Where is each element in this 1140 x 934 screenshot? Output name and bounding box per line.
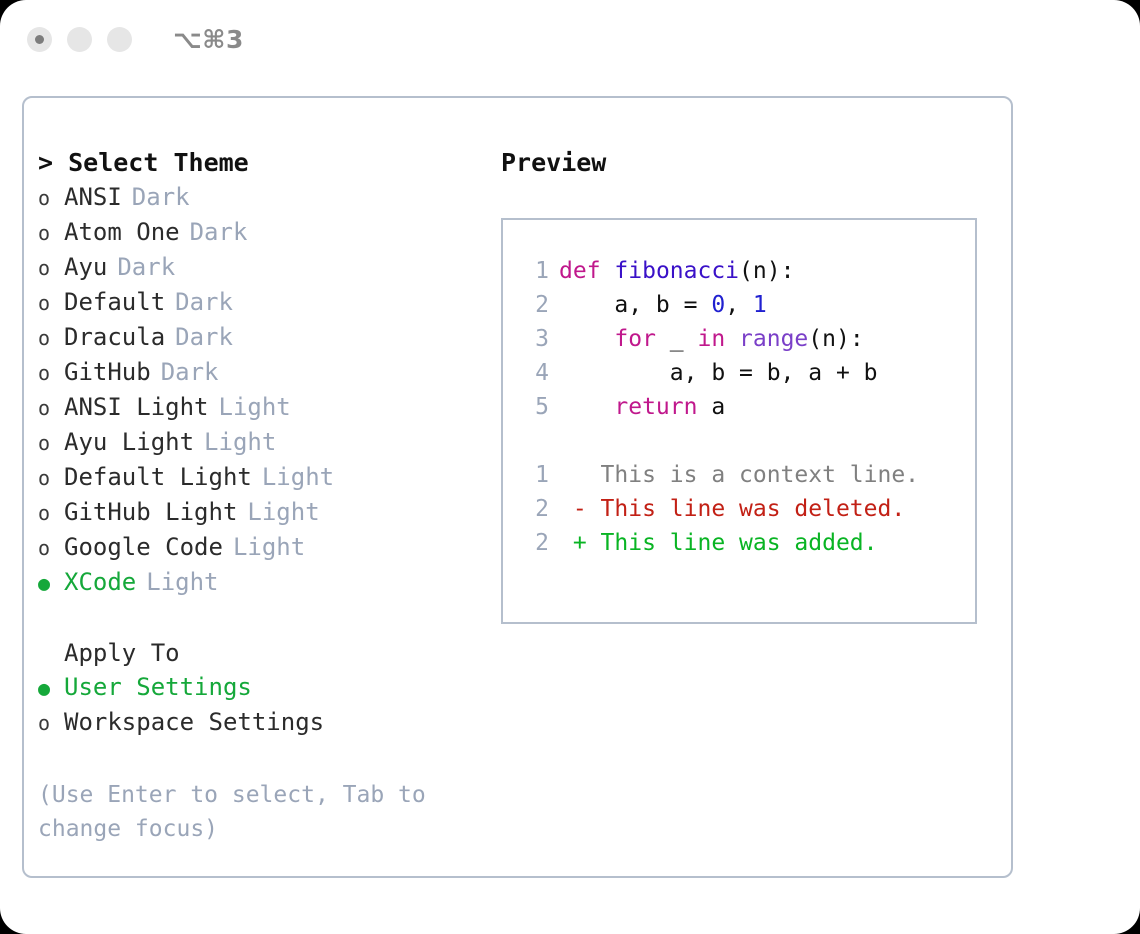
theme-option-ansi[interactable]: oANSIDark — [38, 180, 488, 215]
theme-selector-column: > Select Theme oANSIDarkoAtom OneDarkoAy… — [38, 146, 488, 846]
theme-option-ayu-light[interactable]: oAyu LightLight — [38, 425, 488, 460]
traffic-light-maximize-icon[interactable] — [107, 27, 132, 52]
diff-line: 1 This is a context line. — [515, 458, 975, 492]
theme-option-label: GitHub — [64, 355, 151, 389]
app-window: ⌥⌘3 > Select Theme oANSIDarkoAtom OneDar… — [0, 0, 1140, 934]
code-token-num: 1 — [753, 292, 767, 318]
theme-option-label: ANSI Light — [64, 390, 209, 424]
theme-option-label: ANSI — [64, 180, 122, 214]
theme-option-ansi-light[interactable]: oANSI LightLight — [38, 390, 488, 425]
preview-box: 1def fibonacci(n):2 a, b = 0, 13 for _ i… — [501, 218, 977, 624]
theme-option-label: GitHub Light — [64, 495, 237, 529]
theme-option-dracula[interactable]: oDraculaDark — [38, 320, 488, 355]
radio-unselected-icon: o — [38, 356, 64, 390]
theme-option-tag: Light — [262, 460, 334, 494]
code-token-pln: , — [725, 292, 753, 318]
apply-option-label: User Settings — [64, 670, 252, 704]
code-token-pln: a — [697, 394, 725, 420]
radio-selected-icon: ● — [38, 671, 64, 705]
code-token-pln: a, b = — [559, 292, 711, 318]
code-line-content: return a — [559, 390, 725, 424]
preview-header: Preview — [501, 146, 1001, 180]
code-line-number: 5 — [515, 390, 549, 424]
code-token-pln: (n): — [808, 326, 863, 352]
radio-unselected-icon: o — [38, 251, 64, 285]
theme-option-default-light[interactable]: oDefault LightLight — [38, 460, 488, 495]
code-line-content: a, b = b, a + b — [559, 356, 878, 390]
theme-option-tag: Dark — [132, 180, 190, 214]
traffic-light-dot-icon — [35, 35, 44, 44]
code-token-kw: return — [614, 394, 697, 420]
code-line: 3 for _ in range(n): — [515, 322, 975, 356]
radio-unselected-icon: o — [38, 706, 64, 740]
code-line-number: 1 — [515, 254, 549, 288]
theme-option-tag: Light — [219, 390, 291, 424]
radio-selected-icon: ● — [38, 566, 64, 600]
theme-option-tag: Light — [247, 495, 319, 529]
theme-option-atom-one[interactable]: oAtom OneDark — [38, 215, 488, 250]
theme-option-label: Ayu — [64, 250, 107, 284]
code-token-bi: range — [739, 326, 808, 352]
diff-line: 2 - This line was deleted. — [515, 492, 975, 526]
code-token-pln — [601, 258, 615, 284]
apply-option-user-settings[interactable]: ●User Settings — [38, 670, 488, 705]
select-theme-header: > Select Theme — [38, 146, 488, 180]
diff-line-number: 2 — [515, 492, 549, 526]
theme-option-tag: Dark — [190, 215, 248, 249]
apply-option-label: Workspace Settings — [64, 705, 324, 739]
radio-unselected-icon: o — [38, 181, 64, 215]
code-line: 1def fibonacci(n): — [515, 254, 975, 288]
code-line-number: 2 — [515, 288, 549, 322]
code-token-fn: fibonacci — [614, 258, 739, 284]
theme-option-tag: Dark — [161, 355, 219, 389]
theme-option-github[interactable]: oGitHubDark — [38, 355, 488, 390]
keyboard-hint-text: (Use Enter to select, Tab to change focu… — [38, 778, 438, 846]
diff-line-content-ctx: This is a context line. — [559, 458, 919, 492]
code-line-number: 4 — [515, 356, 549, 390]
theme-option-tag: Dark — [175, 285, 233, 319]
title-bar: ⌥⌘3 — [0, 0, 1140, 78]
code-token-pln: _ — [656, 326, 698, 352]
code-line-content: a, b = 0, 1 — [559, 288, 767, 322]
apply-to-header: Apply To — [38, 636, 488, 670]
traffic-light-minimize-icon[interactable] — [67, 27, 92, 52]
theme-option-tag: Dark — [117, 250, 175, 284]
code-token-pln — [559, 326, 614, 352]
radio-unselected-icon: o — [38, 216, 64, 250]
code-spacer — [515, 424, 975, 458]
keyboard-shortcut-label: ⌥⌘3 — [173, 25, 244, 54]
theme-option-label: Default Light — [64, 460, 252, 494]
preview-column: Preview 1def fibonacci(n):2 a, b = 0, 13… — [501, 146, 1001, 624]
code-line: 2 a, b = 0, 1 — [515, 288, 975, 322]
theme-list[interactable]: oANSIDarkoAtom OneDarkoAyuDarkoDefaultDa… — [38, 180, 488, 600]
code-token-pln — [559, 394, 614, 420]
theme-option-ayu[interactable]: oAyuDark — [38, 250, 488, 285]
radio-unselected-icon: o — [38, 496, 64, 530]
diff-sample: 1 This is a context line.2 - This line w… — [515, 458, 975, 560]
code-line: 5 return a — [515, 390, 975, 424]
apply-to-section: Apply To ●User SettingsoWorkspace Settin… — [38, 636, 488, 740]
diff-line-number: 1 — [515, 458, 549, 492]
code-sample: 1def fibonacci(n):2 a, b = 0, 13 for _ i… — [515, 254, 975, 424]
code-line-content: def fibonacci(n): — [559, 254, 794, 288]
code-token-pln — [725, 326, 739, 352]
code-token-pln: (n): — [739, 258, 794, 284]
theme-option-github-light[interactable]: oGitHub LightLight — [38, 495, 488, 530]
code-token-num: 0 — [711, 292, 725, 318]
radio-unselected-icon: o — [38, 321, 64, 355]
diff-line: 2 + This line was added. — [515, 526, 975, 560]
traffic-light-close-icon[interactable] — [27, 27, 52, 52]
code-line-content: for _ in range(n): — [559, 322, 864, 356]
code-token-kw: in — [697, 326, 725, 352]
apply-to-list[interactable]: ●User SettingsoWorkspace Settings — [38, 670, 488, 740]
theme-option-default[interactable]: oDefaultDark — [38, 285, 488, 320]
radio-unselected-icon: o — [38, 426, 64, 460]
code-token-kw: def — [559, 258, 601, 284]
theme-option-tag: Dark — [175, 320, 233, 354]
diff-line-number: 2 — [515, 526, 549, 560]
content-panel: > Select Theme oANSIDarkoAtom OneDarkoAy… — [22, 96, 1013, 878]
theme-option-tag: Light — [146, 565, 218, 599]
theme-option-label: XCode — [64, 565, 136, 599]
radio-unselected-icon: o — [38, 531, 64, 565]
apply-option-workspace-settings[interactable]: oWorkspace Settings — [38, 705, 488, 740]
theme-option-label: Dracula — [64, 320, 165, 354]
diff-line-content-del: - This line was deleted. — [559, 492, 905, 526]
theme-option-xcode[interactable]: ●XCodeLight — [38, 565, 488, 600]
diff-line-content-add: + This line was added. — [559, 526, 878, 560]
theme-option-label: Ayu Light — [64, 425, 194, 459]
theme-option-label: Atom One — [64, 215, 180, 249]
theme-option-tag: Light — [233, 530, 305, 564]
code-token-pln: a, b = b, a + b — [559, 360, 878, 386]
theme-option-tag: Light — [204, 425, 276, 459]
code-line: 4 a, b = b, a + b — [515, 356, 975, 390]
radio-unselected-icon: o — [38, 461, 64, 495]
code-token-kw: for — [614, 326, 656, 352]
theme-option-google-code[interactable]: oGoogle CodeLight — [38, 530, 488, 565]
radio-unselected-icon: o — [38, 391, 64, 425]
theme-option-label: Google Code — [64, 530, 223, 564]
code-line-number: 3 — [515, 322, 549, 356]
theme-option-label: Default — [64, 285, 165, 319]
radio-unselected-icon: o — [38, 286, 64, 320]
